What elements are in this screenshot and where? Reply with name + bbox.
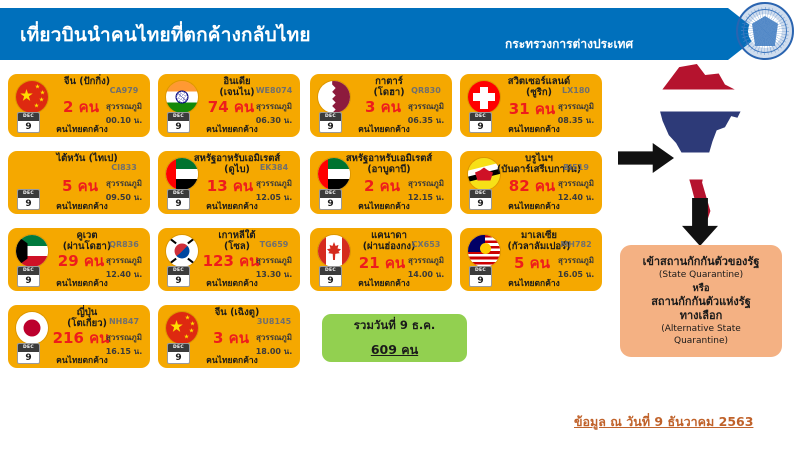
calendar-day-label: 9 (168, 198, 189, 210)
calendar-month-label: DEC (320, 190, 341, 198)
calendar-day-label: 9 (18, 275, 39, 287)
flight-card: DEC9บรูไนฯ(บันดาร์เสรีเบกาวัน)82 คนคนไทย… (460, 151, 602, 214)
calendar-day-label: 9 (168, 275, 189, 287)
calendar-day-label: 9 (18, 121, 39, 133)
card-arrival-airport: สุวรรณภูมิ (553, 100, 599, 113)
calendar-month-label: DEC (168, 113, 189, 121)
summary-total-value: 609 คน (371, 340, 418, 360)
calendar-day-label: 9 (18, 352, 39, 364)
card-arrival-time: 12.05 น. (252, 191, 296, 204)
daily-total-summary: รวมวันที่ 9 ธ.ค. 609 คน (322, 314, 467, 362)
card-arrival-time: 16.05 น. (554, 268, 598, 281)
flight-card: DEC9สวิตเซอร์แลนด์(ซูริก)31 คนคนไทยตกค้า… (460, 74, 602, 137)
calendar-month-label: DEC (320, 113, 341, 121)
card-flight-number: NH847 (102, 317, 146, 326)
calendar-month-label: DEC (18, 113, 39, 121)
calendar-date-icon: DEC9 (319, 189, 342, 210)
calendar-month-label: DEC (470, 113, 491, 121)
card-country-name: สหรัฐอาหรับเอมิเรตส์(อาบูดาบี) (340, 153, 438, 175)
ministry-label: กระทรวงการต่างประเทศ (505, 35, 633, 54)
card-arrival-airport: สุวรรณภูมิ (251, 254, 297, 267)
card-flight-number: 3U8145 (252, 317, 296, 326)
calendar-month-label: DEC (470, 267, 491, 275)
quarantine-alt-thai-subtitle: ทางเลือก (680, 309, 723, 323)
card-arrival-airport: สุวรรณภูมิ (101, 254, 147, 267)
card-arrival-time: 12.40 น. (554, 191, 598, 204)
card-flight-number: BI519 (554, 163, 598, 172)
calendar-date-icon: DEC9 (167, 266, 190, 287)
card-flight-number: EK384 (252, 163, 296, 172)
card-arrival-airport: สุวรรณภูมิ (403, 100, 449, 113)
calendar-month-label: DEC (168, 267, 189, 275)
card-flight-number: TG659 (252, 240, 296, 249)
card-arrival-time: 18.00 น. (252, 345, 296, 358)
page-header: เที่ยวบินนำคนไทยที่ตกค้างกลับไทย กระทรวง… (0, 8, 800, 60)
card-flight-number: CA979 (102, 86, 146, 95)
calendar-date-icon: DEC9 (167, 189, 190, 210)
card-country-line2: (อาบูดาบี) (340, 164, 438, 175)
calendar-month-label: DEC (18, 190, 39, 198)
card-arrival-airport: สุวรรณภูมิ (251, 177, 297, 190)
calendar-date-icon: DEC9 (17, 112, 40, 133)
calendar-month-label: DEC (168, 190, 189, 198)
quarantine-alt-thai-title: สถานกักกันตัวแห่งรัฐ (651, 295, 751, 309)
card-arrival-airport: สุวรรณภูมิ (403, 254, 449, 267)
calendar-day-label: 9 (320, 121, 341, 133)
calendar-date-icon: DEC9 (469, 266, 492, 287)
flight-card: DEC9อินเดีย(เจนไน)74 คนคนไทยตกค้างWE8074… (158, 74, 300, 137)
calendar-day-label: 9 (18, 198, 39, 210)
calendar-date-icon: DEC9 (319, 266, 342, 287)
card-arrival-time: 12.15 น. (404, 191, 448, 204)
calendar-date-icon: DEC9 (469, 189, 492, 210)
card-flight-number: LX180 (554, 86, 598, 95)
card-country-line1: สหรัฐอาหรับเอมิเรตส์ (340, 153, 438, 164)
calendar-day-label: 9 (168, 121, 189, 133)
calendar-date-icon: DEC9 (17, 266, 40, 287)
flight-card: DEC9สหรัฐอาหรับเอมิเรตส์(อาบูดาบี)2 คนคน… (310, 151, 452, 214)
calendar-date-icon: DEC9 (319, 112, 342, 133)
flight-card: DEC9ญี่ปุ่น(โตเกียว)216 คนคนไทยตกค้างNH8… (8, 305, 150, 368)
flight-card-grid: DEC9จีน (ปักกิ่ง)2 คนคนไทยตกค้างCA979สุว… (8, 74, 612, 379)
quarantine-destination-box: เข้าสถานกักกันตัวของรัฐ (State Quarantin… (620, 245, 782, 357)
flight-card: DEC9กาตาร์(โดฮา)3 คนคนไทยตกค้างQR830สุวร… (310, 74, 452, 137)
flight-card: DEC9จีน (เฉิงตู)3 คนคนไทยตกค้าง3U8145สุว… (158, 305, 300, 368)
calendar-day-label: 9 (470, 198, 491, 210)
card-arrival-airport: สุวรรณภูมิ (101, 100, 147, 113)
card-arrival-airport: สุวรรณภูมิ (553, 177, 599, 190)
calendar-day-label: 9 (320, 198, 341, 210)
calendar-date-icon: DEC9 (167, 112, 190, 133)
card-flight-number: MH782 (554, 240, 598, 249)
quarantine-alt-english-line2: Quarantine) (674, 335, 728, 347)
card-flight-number: CI833 (102, 163, 146, 172)
quarantine-or-label: หรือ (692, 282, 709, 295)
calendar-month-label: DEC (470, 190, 491, 198)
summary-date-label: รวมวันที่ 9 ธ.ค. (354, 317, 436, 335)
ministry-seal-icon (736, 2, 794, 60)
calendar-month-label: DEC (320, 267, 341, 275)
card-flight-number: QR836 (102, 240, 146, 249)
card-flight-number: CX653 (404, 240, 448, 249)
card-arrival-airport: สุวรรณภูมิ (101, 177, 147, 190)
card-arrival-airport: สุวรรณภูมิ (403, 177, 449, 190)
page-title: เที่ยวบินนำคนไทยที่ตกค้างกลับไทย (20, 20, 311, 50)
flight-card: DEC9คูเวต(ผ่านโดฮา)29 คนคนไทยตกค้างQR836… (8, 228, 150, 291)
calendar-day-label: 9 (168, 352, 189, 364)
card-arrival-time: 13.30 น. (252, 268, 296, 281)
card-flight-number: QR830 (404, 86, 448, 95)
calendar-date-icon: DEC9 (17, 343, 40, 364)
card-arrival-airport: สุวรรณภูมิ (101, 331, 147, 344)
quarantine-english-title: (State Quarantine) (659, 269, 743, 282)
flight-card: DEC9ไต้หวัน (ไทเป)5 คนคนไทยตกค้างCI833สุ… (8, 151, 150, 214)
calendar-date-icon: DEC9 (167, 343, 190, 364)
flight-card: DEC9มาเลเซีย(กัวลาลัมเปอร์)5 คนคนไทยตกค้… (460, 228, 602, 291)
flight-card: DEC9จีน (ปักกิ่ง)2 คนคนไทยตกค้างCA979สุว… (8, 74, 150, 137)
card-flight-number: WE8074 (252, 86, 296, 95)
calendar-month-label: DEC (18, 267, 39, 275)
calendar-day-label: 9 (470, 121, 491, 133)
calendar-day-label: 9 (320, 275, 341, 287)
card-arrival-airport: สุวรรณภูมิ (553, 254, 599, 267)
card-arrival-time: 12.40 น. (102, 268, 146, 281)
quarantine-alt-english-line1: (Alternative State (661, 323, 741, 335)
card-arrival-airport: สุวรรณภูมิ (251, 100, 297, 113)
flight-card: DEC9สหรัฐอาหรับเอมิเรตส์(ดูไบ)13 คนคนไทย… (158, 151, 300, 214)
flight-card: DEC9เกาหลีใต้(โซล)123 คนคนไทยตกค้างTG659… (158, 228, 300, 291)
calendar-month-label: DEC (168, 344, 189, 352)
card-arrival-time: 08.35 น. (554, 114, 598, 127)
card-arrival-time: 06.35 น. (404, 114, 448, 127)
card-arrival-airport: สุวรรณภูมิ (251, 331, 297, 344)
card-arrival-time: 09.50 น. (102, 191, 146, 204)
card-arrival-time: 06.30 น. (252, 114, 296, 127)
card-arrival-time: 14.00 น. (404, 268, 448, 281)
quarantine-thai-title: เข้าสถานกักกันตัวของรัฐ (643, 255, 760, 269)
flight-card: DEC9แคนาดา(ผ่านฮ่องกง)21 คนคนไทยตกค้างCX… (310, 228, 452, 291)
data-as-of-footer: ข้อมูล ณ วันที่ 9 ธันวาคม 2563 (574, 412, 753, 432)
calendar-day-label: 9 (470, 275, 491, 287)
card-arrival-time: 00.10 น. (102, 114, 146, 127)
calendar-date-icon: DEC9 (469, 112, 492, 133)
calendar-date-icon: DEC9 (17, 189, 40, 210)
card-arrival-time: 16.15 น. (102, 345, 146, 358)
calendar-month-label: DEC (18, 344, 39, 352)
